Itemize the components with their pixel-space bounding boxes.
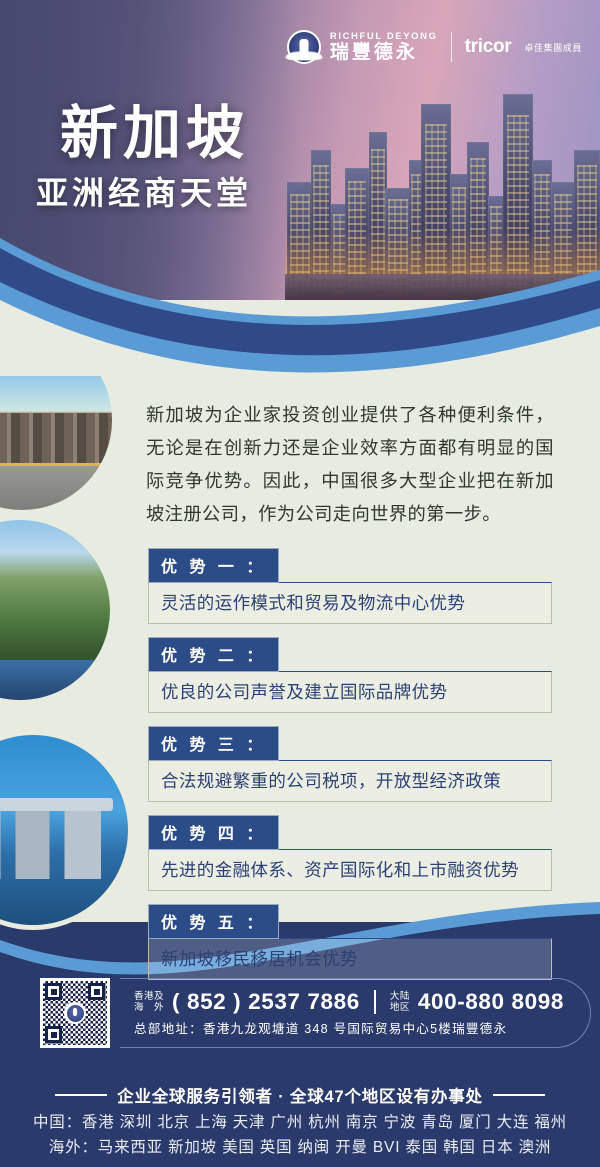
office-locations: 中国：香港 深圳 北京 上海 天津 广州 杭州 南京 宁波 青岛 厦门 大连 福… (0, 1110, 600, 1160)
crest-emblem-icon (287, 30, 321, 64)
hk-phone-label: 香港及 海 外 (134, 991, 164, 1013)
advantage-tab-label: 优 势 一 ： (148, 548, 279, 583)
advantage-text: 优良的公司声誉及建立国际品牌优势 (148, 671, 552, 713)
top-wave-divider (0, 196, 600, 376)
page-subtitle: 亚洲经商天堂 (36, 168, 252, 214)
advantage-text: 先进的金融体系、资产国际化和上市融资优势 (148, 849, 552, 891)
phone-row: 香港及 海 外 ( 852 ) 2537 7886 大陆 地区 400-880 … (134, 989, 564, 1015)
advantage-item: 优 势 三 ： 合法规避繁重的公司税项，开放型经济政策 (148, 726, 552, 802)
slogan-text: 企业全球服务引领者 · 全球47个地区设有办事处 (117, 1083, 483, 1107)
page-title: 新加坡 (60, 86, 249, 170)
advantage-text: 灵活的运作模式和贸易及物流中心优势 (148, 582, 552, 624)
china-offices: 中国：香港 深圳 北京 上海 天津 广州 杭州 南京 宁波 青岛 厦门 大连 福… (0, 1110, 600, 1135)
advantage-tab-label: 优 势 四 ： (148, 815, 279, 850)
contact-details: 香港及 海 外 ( 852 ) 2537 7886 大陆 地区 400-880 … (120, 978, 591, 1048)
slogan-rule-right (493, 1094, 545, 1096)
brand-english-name: RICHFUL DEYONG (330, 32, 438, 42)
advantage-item: 优 势 二 ： 优良的公司声誉及建立国际品牌优势 (148, 637, 552, 713)
partner-name: tricor (465, 36, 512, 58)
headquarters-address: 总部地址：香港九龙观塘道 348 号国际贸易中心5楼瑞豐德永 (134, 1018, 564, 1037)
brand-logo: RICHFUL DEYONG 瑞豐德永 tricor 卓佳集團成員 (287, 30, 582, 64)
phone-divider (374, 990, 376, 1014)
intro-paragraph: 新加坡为企业家投资创业提供了各种便利条件，无论是在创新力还是企业效率方面都有明显… (146, 398, 554, 530)
advantage-item: 优 势 五 ： 新加坡移民移居机会优势 (148, 904, 552, 980)
advantage-item: 优 势 一 ： 灵活的运作模式和贸易及物流中心优势 (148, 548, 552, 624)
cn-phone-number[interactable]: 400-880 8098 (418, 989, 564, 1015)
advantage-tab-label: 优 势 二 ： (148, 637, 279, 672)
brand-names: RICHFUL DEYONG 瑞豐德永 (330, 32, 438, 63)
contact-block: 香港及 海 外 ( 852 ) 2537 7886 大陆 地区 400-880 … (40, 978, 591, 1048)
partner-suffix: 卓佳集團成員 (524, 41, 582, 54)
cn-phone-label: 大陆 地区 (390, 991, 410, 1013)
hk-phone-number[interactable]: ( 852 ) 2537 7886 (172, 989, 360, 1015)
overseas-offices: 海外：马来西亚 新加坡 美国 英国 纳闽 开曼 BVI 泰国 韩国 日本 澳洲 (0, 1135, 600, 1160)
qr-code-icon[interactable] (40, 978, 110, 1048)
logo-divider (451, 32, 452, 62)
brand-chinese-name: 瑞豐德永 (330, 43, 438, 62)
marina-bay-sands-photo (0, 735, 128, 925)
advantage-list: 优 势 一 ： 灵活的运作模式和贸易及物流中心优势 优 势 二 ： 优良的公司声… (148, 548, 552, 993)
advantage-text: 新加坡移民移居机会优势 (148, 938, 552, 980)
slogan-rule-left (55, 1094, 107, 1096)
advantage-text: 合法规避繁重的公司税项，开放型经济政策 (148, 760, 552, 802)
slogan-row: 企业全球服务引领者 · 全球47个地区设有办事处 (0, 1083, 600, 1107)
advantage-item: 优 势 四 ： 先进的金融体系、资产国际化和上市融资优势 (148, 815, 552, 891)
city-greenery-photo (0, 520, 110, 700)
poster-canvas: RICHFUL DEYONG 瑞豐德永 tricor 卓佳集團成員 新加坡 亚洲… (0, 0, 600, 1167)
advantage-tab-label: 优 势 三 ： (148, 726, 279, 761)
advantage-tab-label: 优 势 五 ： (148, 904, 279, 939)
